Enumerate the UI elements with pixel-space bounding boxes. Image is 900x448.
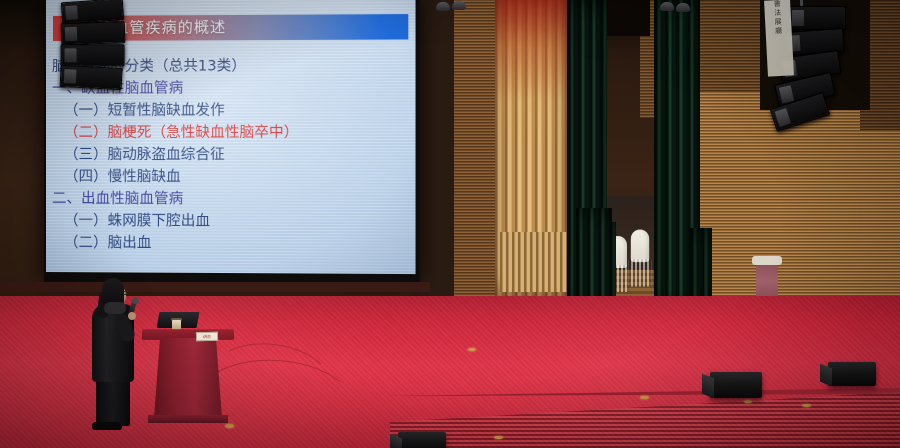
speaker-grill [65,27,77,41]
floor-insert [468,348,476,351]
floor-insert [744,400,752,403]
banner-glyph: 廳 [765,26,791,36]
curtain-beige-lower [500,232,568,292]
ceiling-spotlight [660,2,674,11]
floor-insert [640,396,649,399]
presenter-legs [96,378,130,426]
speaker-grill [65,48,77,62]
speaker-cabinet [788,6,846,30]
speaker-cabinet [61,44,125,66]
speaker-grill [779,85,794,103]
podium: 讲台 [148,329,228,426]
speaker-grill [65,5,78,20]
presenter-shoes [92,422,122,430]
stage-back-shadow [0,282,430,292]
floor-insert [802,404,811,407]
presenter-hand [128,312,136,320]
presenter [88,278,140,430]
podium-sign: 讲台 [196,332,218,341]
speaker-grill [64,69,77,84]
slide-line-highlight: （二）脑梗死（急性缺血性脑卒中） [50,122,407,144]
slide-line: （二）脑出血 [50,232,407,256]
presenter-collar [104,302,126,314]
monitor-face [390,434,402,448]
floor-insert [494,436,503,439]
slide-line: （一）蛛网膜下腔出血 [50,210,407,233]
slide-line: 二、出血性脑血管病 [50,188,407,211]
ceiling-spotlight [452,1,466,10]
monitor-face [702,374,714,399]
slide-line: （一）短暂性脑缺血发作 [50,99,407,122]
stage-monitor [828,362,876,386]
slide-line: （三）脑动脉盗血综合征 [50,144,407,166]
microphone-head [132,297,139,304]
podium-base [148,415,228,423]
slide-line: （四）慢性脑缺血 [50,166,407,189]
chair-back [631,229,649,262]
speaker-grill [792,10,804,26]
hanging-banner: 書 法 展 廳 [764,0,794,77]
backstage-bin-cover [752,256,782,265]
speaker-cabinet [61,21,126,45]
podium-body [154,338,222,418]
ceiling-spotlight [436,2,450,11]
chair-skirt [629,259,651,287]
speaker-cabinet [60,65,123,90]
auditorium-scene: 一、脑血管疾病的概述 脑血管病的分类（总共13类） 一、缺血性脑血管病 （一）短… [0,0,900,448]
speaker-grill [775,108,791,127]
backstage-chair [629,229,651,286]
ceiling-spotlight [676,3,690,12]
line-array-left [57,0,137,96]
stage-monitor [398,432,446,448]
stage-monitor [710,372,762,398]
